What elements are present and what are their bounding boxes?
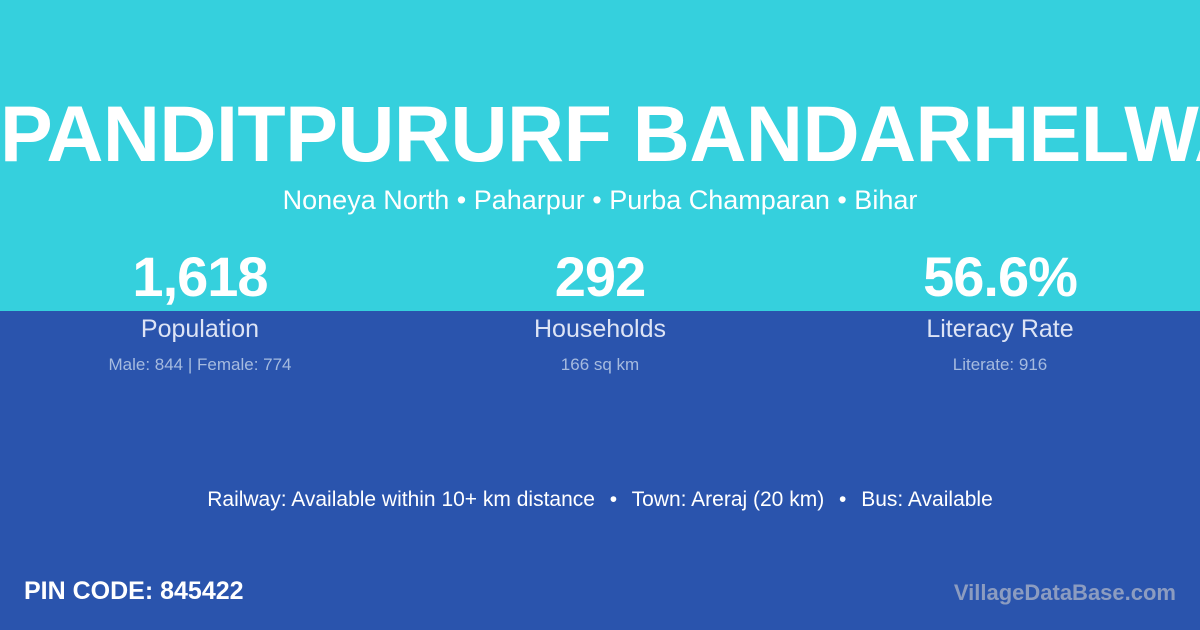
stat-households-value: 292: [400, 243, 800, 311]
stat-literacy-count: Literate: 916: [800, 352, 1200, 378]
stat-population-breakdown: Male: 844 | Female: 774: [0, 352, 400, 378]
stat-households: 292 Households 166 sq km: [400, 243, 800, 378]
stat-literacy-rate-value: 56.6%: [800, 243, 1200, 311]
village-info-card: PANDITPURURF BANDARHELWA Noneya North • …: [0, 0, 1200, 630]
stat-households-label: Households: [400, 313, 800, 346]
location-breadcrumb: Noneya North • Paharpur • Purba Champara…: [0, 181, 1200, 219]
amenities-line: Railway: Available within 10+ km distanc…: [0, 483, 1200, 517]
stats-row: 1,618 Population Male: 844 | Female: 774…: [0, 243, 1200, 378]
stat-literacy-rate: 56.6% Literacy Rate Literate: 916: [800, 243, 1200, 378]
amenity-separator-1: •: [601, 488, 626, 511]
pin-code: PIN CODE: 845422: [24, 574, 244, 608]
stat-households-area: 166 sq km: [400, 352, 800, 378]
amenity-separator-2: •: [830, 488, 855, 511]
stat-literacy-rate-label: Literacy Rate: [800, 313, 1200, 346]
amenity-railway: Railway: Available within 10+ km distanc…: [207, 488, 595, 511]
page-title: PANDITPURURF BANDARHELWA: [0, 88, 1200, 180]
amenity-town: Town: Areraj (20 km): [632, 488, 825, 511]
amenity-bus: Bus: Available: [861, 488, 993, 511]
stat-population-label: Population: [0, 313, 400, 346]
stat-population-value: 1,618: [0, 243, 400, 311]
site-watermark: VillageDataBase.com: [954, 578, 1176, 608]
stat-population: 1,618 Population Male: 844 | Female: 774: [0, 243, 400, 378]
